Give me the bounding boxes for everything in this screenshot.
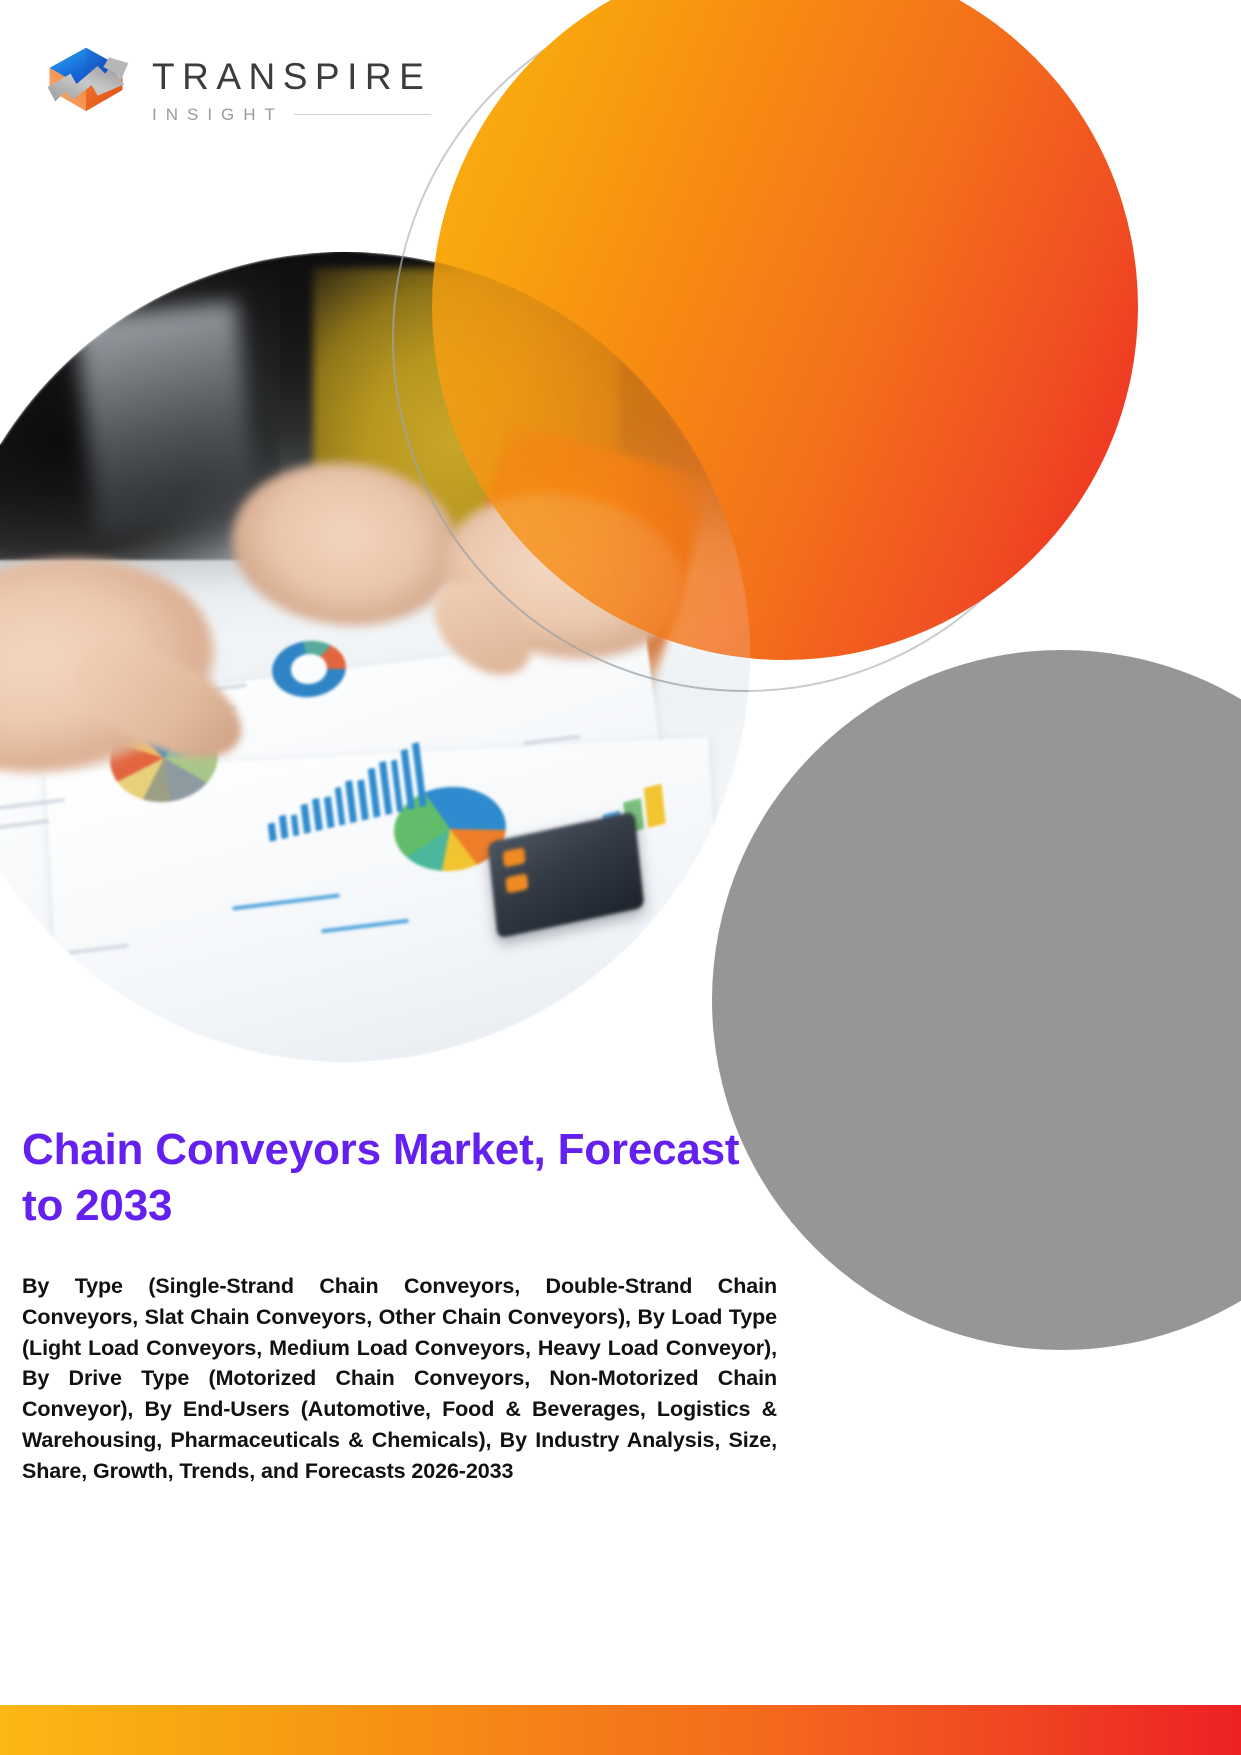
brand-logo[interactable]: TRANSPIRE INSIGHT — [38, 42, 431, 138]
page-subtitle: By Type (Single-Strand Chain Conveyors, … — [22, 1271, 777, 1488]
cover-text-block: Chain Conveyors Market, Forecast to 2033… — [22, 1122, 777, 1487]
report-cover-page: TRANSPIRE INSIGHT Chain Conveyors Market… — [0, 0, 1241, 1755]
brand-wordmark-group: TRANSPIRE INSIGHT — [152, 58, 431, 123]
page-title: Chain Conveyors Market, Forecast to 2033 — [22, 1122, 777, 1235]
brand-subword: INSIGHT — [152, 106, 284, 123]
brand-rule — [294, 114, 431, 115]
gray-decorative-circle — [712, 650, 1241, 1350]
brand-wordmark: TRANSPIRE — [152, 58, 431, 95]
photo-shirt — [75, 301, 259, 535]
transpire-cube-arrow-logo-icon — [38, 42, 134, 138]
hero-photo-circle — [0, 252, 750, 1062]
brand-subword-row: INSIGHT — [152, 106, 431, 123]
footer-gradient-bar — [0, 1705, 1241, 1755]
